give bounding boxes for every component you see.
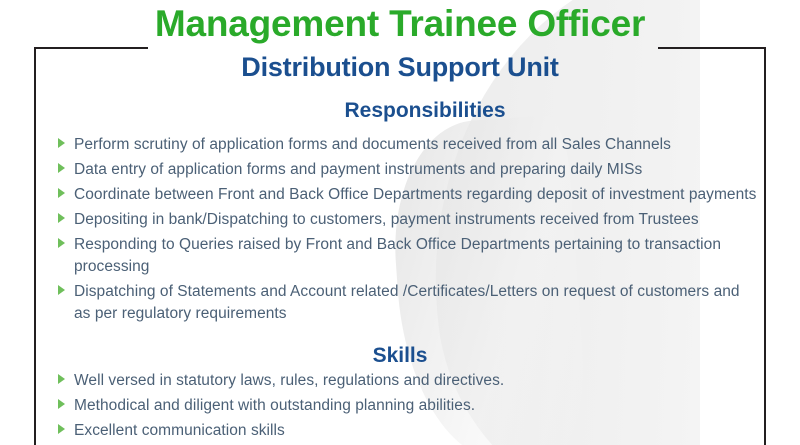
- arrow-right-icon: [58, 138, 65, 148]
- list-item-text: Excellent communication skills: [74, 422, 285, 439]
- job-posting-poster: Management Trainee Officer Distribution …: [0, 0, 800, 445]
- list-item: Depositing in bank/Dispatching to custom…: [58, 209, 758, 231]
- section-heading-responsibilities: Responsibilities: [25, 98, 800, 124]
- arrow-right-icon: [58, 238, 65, 248]
- arrow-right-icon: [58, 285, 65, 295]
- list-item-text: Well versed in statutory laws, rules, re…: [74, 372, 504, 389]
- arrow-right-icon: [58, 188, 65, 198]
- list-item: Well versed in statutory laws, rules, re…: [58, 370, 758, 392]
- arrow-right-icon: [58, 399, 65, 409]
- list-item-text: Data entry of application forms and paym…: [74, 161, 642, 178]
- responsibilities-list: Perform scrutiny of application forms an…: [58, 134, 758, 328]
- arrow-right-icon: [58, 374, 65, 384]
- section-heading-skills: Skills: [0, 343, 800, 369]
- arrow-right-icon: [58, 424, 65, 434]
- list-item: Data entry of application forms and paym…: [58, 159, 758, 181]
- list-item: Dispatching of Statements and Account re…: [58, 281, 758, 325]
- list-item-text: Depositing in bank/Dispatching to custom…: [74, 211, 699, 228]
- list-item-text: Coordinate between Front and Back Office…: [74, 186, 756, 203]
- list-item: Methodical and diligent with outstanding…: [58, 395, 758, 417]
- arrow-right-icon: [58, 163, 65, 173]
- job-title: Management Trainee Officer: [0, 2, 800, 46]
- frame-top-left-border: [34, 47, 148, 49]
- list-item-text: Perform scrutiny of application forms an…: [74, 136, 671, 153]
- list-item-text: Methodical and diligent with outstanding…: [74, 397, 475, 414]
- list-item: Responding to Queries raised by Front an…: [58, 234, 758, 278]
- skills-list: Well versed in statutory laws, rules, re…: [58, 370, 758, 445]
- arrow-right-icon: [58, 213, 65, 223]
- list-item-text: Dispatching of Statements and Account re…: [74, 283, 740, 322]
- department-title: Distribution Support Unit: [0, 51, 800, 83]
- list-item-text: Responding to Queries raised by Front an…: [74, 236, 721, 275]
- list-item: Excellent communication skills: [58, 420, 758, 442]
- list-item: Perform scrutiny of application forms an…: [58, 134, 758, 156]
- frame-top-right-border: [658, 47, 766, 49]
- list-item: Coordinate between Front and Back Office…: [58, 184, 758, 206]
